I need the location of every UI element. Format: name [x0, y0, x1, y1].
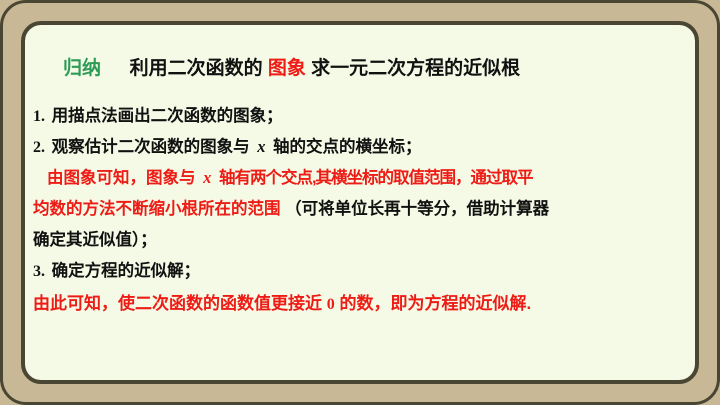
slide-page: 归纳 利用二次函数的 图象 求一元二次方程的近似根 1. 用描点法画出二次函数的…	[25, 25, 695, 380]
slide-content: 归纳 利用二次函数的 图象 求一元二次方程的近似根 1. 用描点法画出二次函数的…	[25, 25, 695, 380]
title-tail: 求一元二次方程的近似根	[311, 58, 520, 79]
list-item: 2. 观察估计二次函数的图象与 x 轴的交点的横坐标；	[33, 132, 693, 163]
note-line-1-variable: x	[200, 168, 214, 187]
slide-frame: 归纳 利用二次函数的 图象 求一元二次方程的近似根 1. 用描点法画出二次函数的…	[0, 0, 720, 405]
page-title: 归纳 利用二次函数的 图象 求一元二次方程的近似根	[63, 53, 520, 80]
step-2-text-pre: 观察估计二次函数的图象与	[52, 138, 250, 156]
title-label: 归纳	[63, 58, 101, 79]
step-2-variable: x	[254, 137, 268, 156]
note-line-2-black: （可将单位长再十等分，借助计算器	[285, 200, 549, 218]
step-2-text-post: 轴的交点的横坐标；	[273, 138, 422, 156]
step-2-marker: 2.	[33, 139, 45, 156]
step-1-marker: 1.	[33, 108, 45, 125]
body-block: 1. 用描点法画出二次函数的图象； 2. 观察估计二次函数的图象与 x 轴的交点…	[33, 101, 693, 321]
title-lead: 利用二次函数的	[130, 58, 263, 79]
note-line-1-pre: 由图象可知，图象与	[47, 169, 196, 187]
step-3-text: 确定方程的近似解；	[52, 262, 201, 280]
title-highlight: 图象	[268, 58, 306, 79]
conclusion-pre: 由此可知，使二次函数的函数值更接近	[33, 294, 322, 313]
conclusion-zero: 0	[327, 296, 335, 313]
conclusion-post: 的数，即为方程的近似解.	[339, 294, 531, 313]
conclusion-line: 由此可知，使二次函数的函数值更接近 0 的数，即为方程的近似解.	[33, 287, 693, 321]
note-line-3: 确定其近似值）；	[33, 225, 693, 256]
list-item: 1. 用描点法画出二次函数的图象；	[33, 101, 693, 132]
step-3-marker: 3.	[33, 263, 45, 280]
note-line-2-red: 均数的方法不断缩小根所在的范围	[33, 200, 281, 218]
note-line-2: 均数的方法不断缩小根所在的范围 （可将单位长再十等分，借助计算器	[33, 194, 693, 225]
note-line-3-black: 确定其近似值）；	[33, 231, 157, 249]
step-1-text: 用描点法画出二次函数的图象；	[52, 107, 283, 125]
list-item: 3. 确定方程的近似解；	[33, 256, 693, 287]
note-line-1: 由图象可知，图象与 x 轴有两个交点,其横坐标的取值范围，通过取平	[33, 163, 693, 194]
note-line-1-post: 轴有两个交点,其横坐标的取值范围，通过取平	[219, 169, 533, 187]
